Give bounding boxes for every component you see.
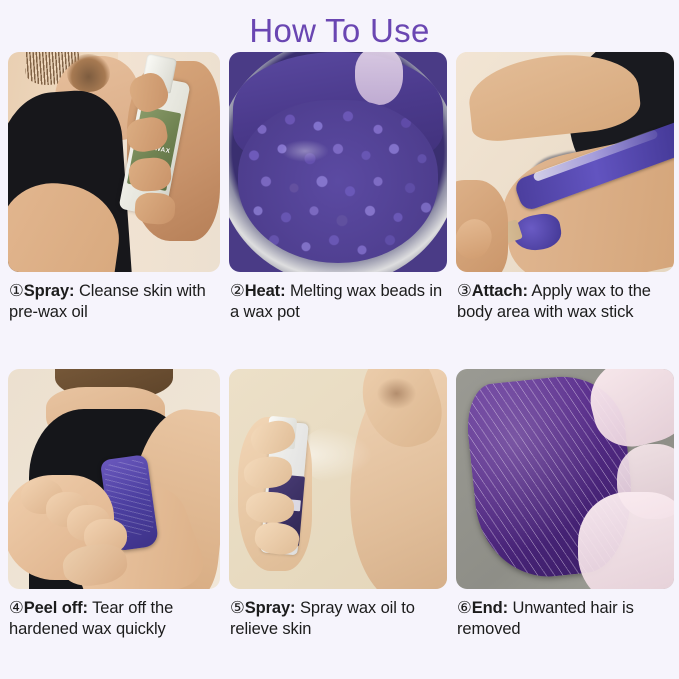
step-6-photo-removed-wax-strip	[456, 369, 674, 589]
step-5-caption: ⑤Spray: Spray wax oil to relieve skin	[229, 589, 447, 675]
steps-row-bottom: ④Peel off: Tear off the hardened wax qui…	[0, 358, 679, 675]
step-2-lead: Heat:	[245, 282, 286, 300]
gloved-thumb	[578, 492, 674, 589]
step-4-lead: Peel off:	[24, 599, 88, 617]
finger	[134, 191, 176, 225]
step-2-number: ②	[230, 282, 245, 300]
step-6-caption: ⑥End: Unwanted hair is removed	[456, 589, 674, 675]
how-to-use-infographic: How To Use PRE WAX 2 FL OZ	[0, 0, 679, 679]
step-4-number: ④	[9, 599, 24, 617]
step-1-lead: Spray:	[24, 282, 75, 300]
underarm-shadow	[377, 378, 416, 409]
steps-row-top: PRE WAX 2 FL OZ ①Spray: Cleanse skin wit…	[0, 52, 679, 358]
step-3-caption: ③Attach: Apply wax to the body area with…	[456, 272, 674, 358]
finger	[246, 491, 295, 523]
step-1-caption: ①Spray: Cleanse skin with pre-wax oil	[8, 272, 220, 358]
wax-surface-highlight	[281, 140, 329, 162]
step-4-caption: ④Peel off: Tear off the hardened wax qui…	[8, 589, 220, 675]
step-3-lead: Attach:	[472, 282, 528, 300]
page-title: How To Use	[0, 0, 679, 52]
step-5-number: ⑤	[230, 599, 245, 617]
step-card-6: ⑥End: Unwanted hair is removed	[456, 369, 674, 675]
step-6-number: ⑥	[457, 599, 472, 617]
step-card-5: ⑤Spray: Spray wax oil to relieve skin	[229, 369, 447, 675]
step-5-photo-after-wax-spray	[229, 369, 447, 589]
step-card-1: PRE WAX 2 FL OZ ①Spray: Cleanse skin wit…	[8, 52, 220, 358]
purple-wax-beads	[238, 100, 439, 263]
step-3-number: ③	[457, 282, 472, 300]
step-5-lead: Spray:	[245, 599, 296, 617]
finger	[128, 156, 173, 192]
step-card-3: ③Attach: Apply wax to the body area with…	[456, 52, 674, 358]
step-card-2: ②Heat: Melting wax beads in a wax pot	[229, 52, 447, 358]
step-6-lead: End:	[472, 599, 508, 617]
step-1-photo-pre-wax-spray: PRE WAX 2 FL OZ	[8, 52, 220, 272]
underarm-shadow	[67, 54, 109, 91]
step-4-photo-peel-hardened-wax	[8, 369, 220, 589]
step-1-number: ①	[9, 282, 24, 300]
step-2-photo-wax-beads-pot	[229, 52, 447, 272]
step-2-caption: ②Heat: Melting wax beads in a wax pot	[229, 272, 447, 358]
step-card-4: ④Peel off: Tear off the hardened wax qui…	[8, 369, 220, 675]
step-3-photo-apply-wax-stick	[456, 52, 674, 272]
